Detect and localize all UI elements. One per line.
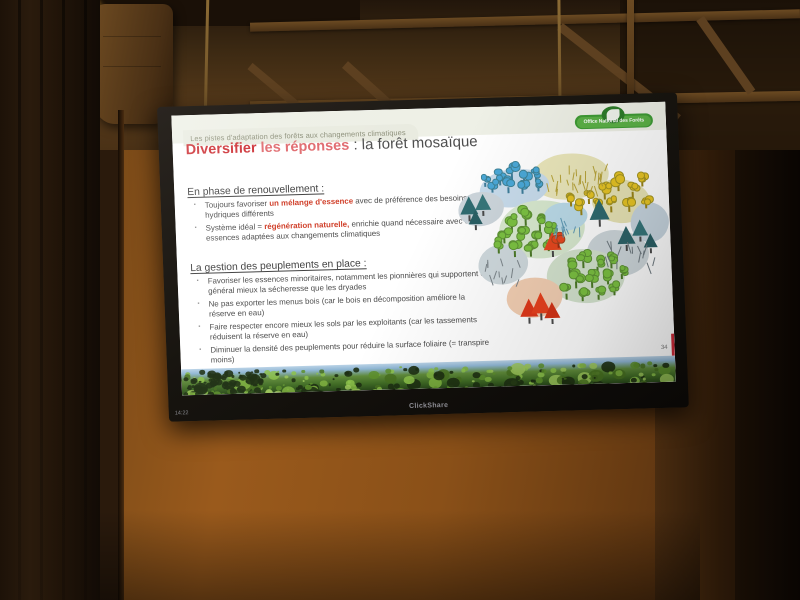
- shrub-icon: [498, 271, 500, 277]
- tree-icon: [559, 286, 574, 301]
- shrub-icon: [652, 257, 655, 266]
- conifer-icon: [589, 198, 610, 227]
- tree-icon: [575, 252, 592, 269]
- tree-icon: [622, 198, 637, 213]
- window-curtain: [0, 0, 100, 600]
- title-part-rose: les réponses: [256, 138, 349, 157]
- conifer-icon: [544, 302, 561, 325]
- onf-logo-text: Office National des Forêts: [575, 115, 653, 128]
- display-clock: 14:22: [175, 410, 189, 416]
- shrub-icon: [487, 262, 488, 268]
- tree-icon: [480, 176, 490, 187]
- room-scene: Les pistes d'adaptation des forêts aux c…: [0, 0, 800, 600]
- tree-icon: [610, 175, 627, 192]
- display-panel: Les pistes d'adaptation des forêts aux c…: [171, 102, 676, 396]
- mosaic-forest-diagram: [451, 148, 670, 344]
- slide: Les pistes d'adaptation des forêts aux c…: [171, 102, 676, 396]
- tree-icon: [501, 179, 516, 194]
- onf-logo: Office National des Forêts: [574, 105, 653, 132]
- bullet-text-highlight: un mélange d'essence: [269, 197, 353, 208]
- tree-icon: [516, 182, 528, 195]
- title-part-red: Diversifier: [185, 140, 257, 158]
- tree-icon: [523, 243, 538, 258]
- tree-icon: [636, 175, 648, 188]
- tree-icon: [491, 240, 506, 255]
- section-renouvellement: En phase de renouvellement : Toujours fa…: [187, 179, 489, 244]
- tree-icon: [565, 195, 577, 208]
- section-gestion: La gestion des peuplements en place : Fa…: [190, 255, 494, 366]
- tree-icon: [640, 197, 652, 210]
- slide-accent-strip: [671, 334, 675, 356]
- conifer-icon: [468, 210, 483, 230]
- tree-icon: [616, 267, 628, 280]
- presentation-display[interactable]: Les pistes d'adaptation des forêts aux c…: [157, 92, 689, 421]
- shrub-icon: [575, 169, 576, 176]
- bullet-item: Système idéal = régénération naturelle, …: [189, 216, 490, 244]
- shrub-icon: [569, 166, 570, 175]
- shrub-icon: [646, 262, 651, 273]
- floor-shadow: [100, 510, 700, 600]
- display-bezel: Les pistes d'adaptation des forêts aux c…: [157, 92, 689, 421]
- tree-icon: [533, 181, 543, 192]
- shrub-icon: [579, 227, 580, 237]
- clickshare-brand-label: ClickShare: [409, 402, 448, 410]
- tree-icon: [575, 287, 590, 302]
- tree-icon: [592, 288, 604, 301]
- tree-icon: [507, 243, 522, 258]
- title-part-grey: : la forêt mosaïque: [349, 133, 478, 154]
- tree-icon: [608, 284, 620, 297]
- slide-page-number: 34: [661, 345, 668, 351]
